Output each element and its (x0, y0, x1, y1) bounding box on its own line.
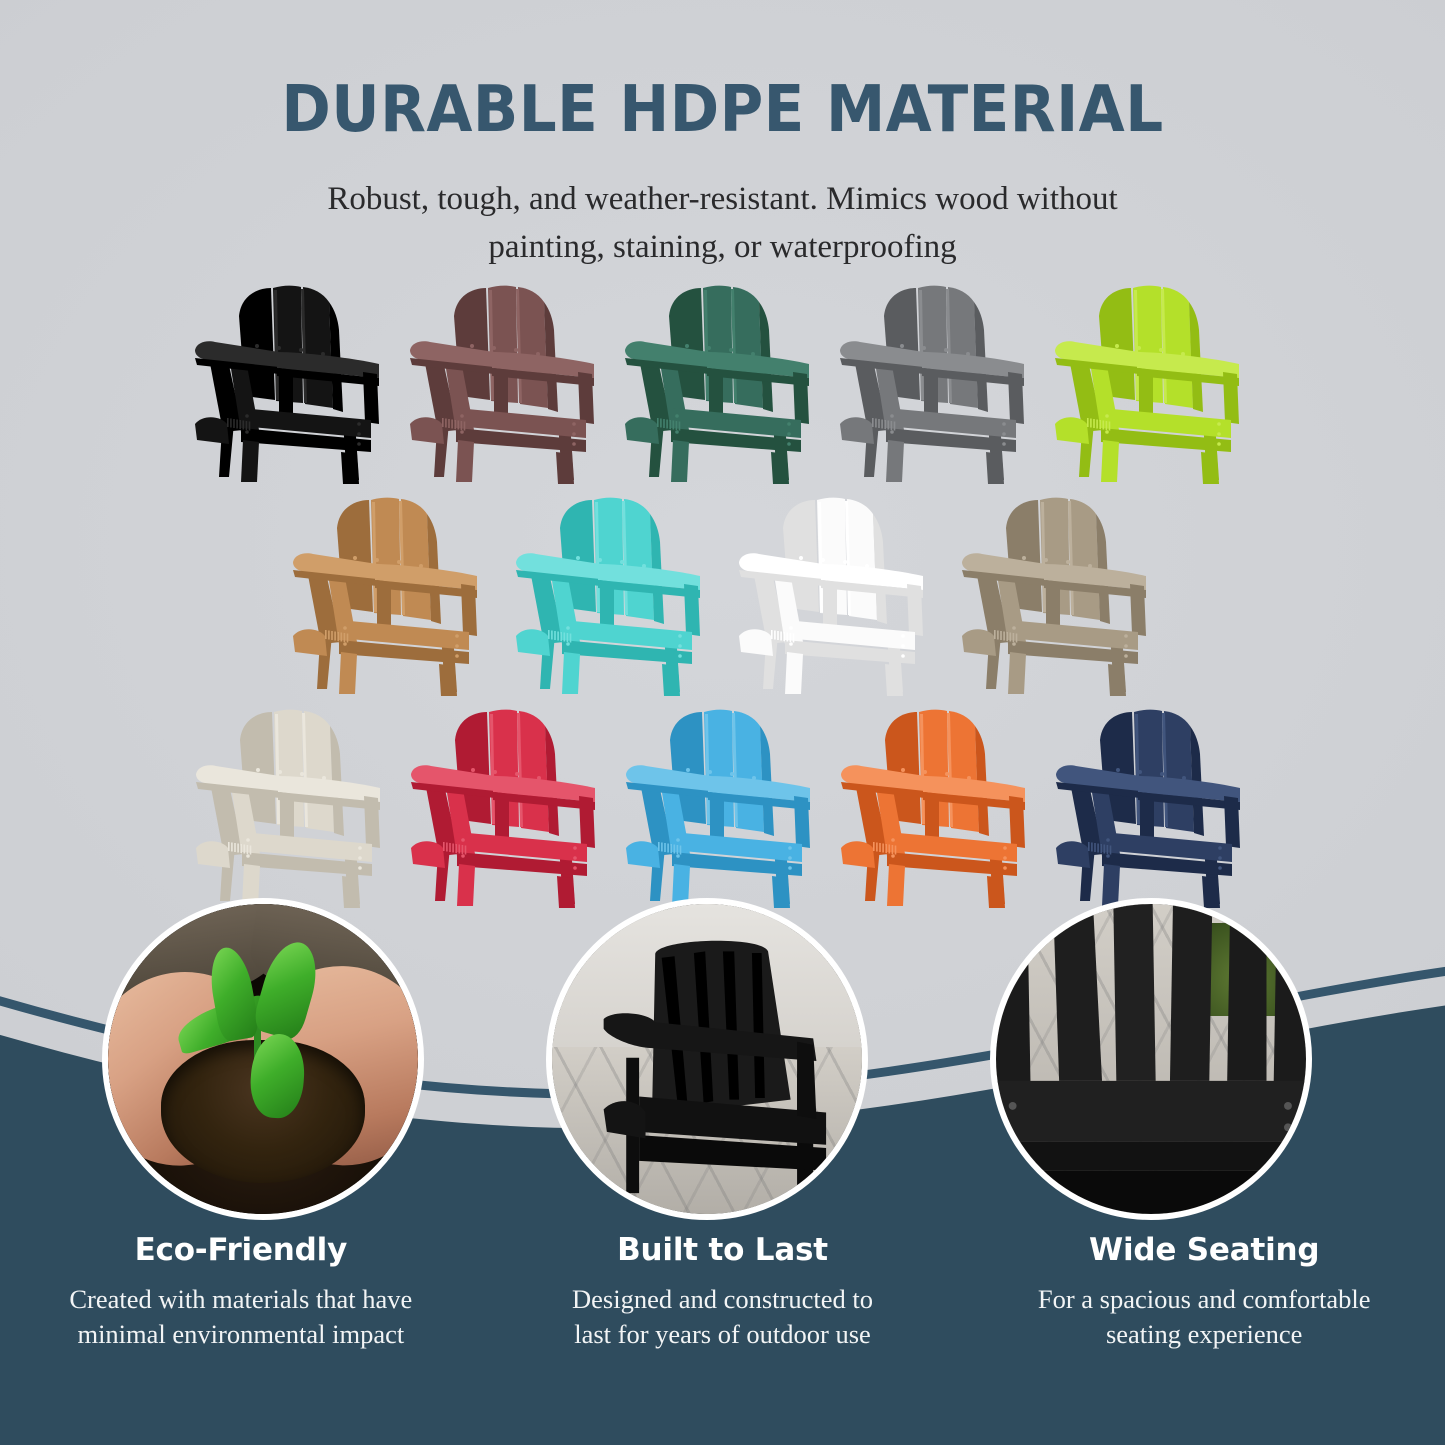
chair-rivet (397, 560, 401, 564)
feature-desc-line-1: For a spacious and comfortable (977, 1282, 1431, 1317)
chair-part (518, 287, 548, 408)
chair-swatch-white (727, 484, 942, 696)
chair-hinge-tooth (792, 634, 794, 643)
chair-swatch-gray (828, 272, 1043, 484)
chair-part (1223, 372, 1239, 424)
chair-hinge-tooth (884, 420, 886, 429)
chair-rivet (788, 856, 792, 860)
chair-hinge-tooth (557, 632, 559, 641)
chair-color-grid (0, 272, 1445, 908)
patio-photo-background (552, 904, 862, 1214)
chair-part (410, 417, 444, 444)
chair-hinge-tooth (1103, 421, 1105, 430)
chair-rivet (455, 644, 459, 648)
eco-friendly-circle-image (102, 898, 424, 1220)
chair-rivet (1217, 422, 1221, 426)
chair-ivory (184, 696, 399, 908)
chair-hinge-tooth (783, 632, 785, 641)
chair-rivet (922, 346, 926, 350)
chair-rivet (1012, 642, 1016, 646)
chair-hinge-tooth (879, 843, 881, 852)
header: DURABLE HDPE MATERIAL Robust, tough, and… (0, 0, 1445, 272)
chair-part (461, 584, 477, 636)
chair-rivet (572, 432, 576, 436)
chair-hinge-tooth (464, 422, 466, 431)
chair-hinge-tooth (346, 634, 348, 643)
chair-hinge-tooth (894, 422, 896, 431)
chair-part (1130, 584, 1146, 636)
chair-rivet (923, 770, 927, 774)
chair-rivet (460, 414, 464, 418)
chair-hinge-tooth (455, 844, 457, 853)
chair-part (303, 287, 333, 408)
chair-rivet (246, 854, 250, 858)
chair-swatch-lime-green (1043, 272, 1258, 484)
chair-hinge-tooth (231, 843, 233, 852)
chair-hinge-tooth (774, 631, 776, 640)
chair-rivet (492, 346, 496, 350)
chair-rivet (1105, 430, 1109, 434)
chair-rivet (788, 846, 792, 850)
chair-hinge-tooth (462, 845, 464, 854)
chair-rivet (357, 442, 361, 446)
chair-hinge-tooth (658, 842, 660, 851)
chair-hinge-tooth (1107, 845, 1109, 854)
chair-hinge-tooth (892, 845, 894, 854)
chair-rivet (572, 442, 576, 446)
chair-row-1 (0, 272, 1445, 484)
chair-part (986, 452, 1004, 484)
chair-part (556, 452, 574, 484)
chair-swatch-ivory (184, 696, 399, 908)
chair-rivet (686, 768, 690, 772)
feature-captions: Eco-Friendly Created with materials that… (0, 1232, 1445, 1352)
chair-swatch-teak (281, 484, 496, 696)
chair-hinge-tooth (1006, 632, 1008, 641)
chair-hinge-tooth (888, 421, 890, 430)
chair-rivet (1002, 422, 1006, 426)
chair-part (739, 629, 773, 656)
chair-rivet (1066, 560, 1070, 564)
chair-hinge-tooth (1091, 843, 1093, 852)
chair-hinge-tooth (445, 419, 447, 428)
chair-hinge-tooth (1110, 846, 1112, 855)
chair-hinge-tooth (889, 845, 891, 854)
chair-hinge-tooth (1104, 845, 1106, 854)
chair-hinge-tooth (1088, 842, 1090, 851)
chair-rivet (676, 838, 680, 842)
chair-rivet (1002, 432, 1006, 436)
chair-hinge-tooth (343, 633, 345, 642)
chair-hinge-tooth (452, 844, 454, 853)
chair-rivet (789, 626, 793, 630)
feature-desc-line-2: seating experience (977, 1317, 1431, 1352)
chair-rivet (1022, 556, 1026, 560)
wide-seat-illustration (996, 904, 1306, 1214)
chair-swatch-dark-green (613, 272, 828, 484)
chair-hinge-tooth (247, 845, 249, 854)
chair-hinge-tooth (566, 633, 568, 642)
chair-hinge-tooth (676, 421, 678, 430)
chair-rivet (675, 414, 679, 418)
chair-hinge-tooth (250, 846, 252, 855)
chair-hinge-tooth (777, 631, 779, 640)
chair-rivet (1137, 346, 1141, 350)
chair-rivet (460, 430, 464, 434)
chair-hinge-tooth (666, 420, 668, 429)
chair-hinge-tooth (667, 844, 669, 853)
chair-rivet (1159, 348, 1163, 352)
chair-part (519, 711, 549, 832)
black-chair-on-patio-photo (552, 904, 862, 1214)
chair-hinge-tooth (661, 843, 663, 852)
chair-rivet (901, 654, 905, 658)
chair-hinge-tooth (873, 842, 875, 851)
eco-photo-background (108, 904, 418, 1214)
feature-desc-line-1: Designed and constructed to (496, 1282, 950, 1317)
chair-rivet (358, 866, 362, 870)
chair-rivet (1217, 442, 1221, 446)
chair-hinge-tooth (459, 845, 461, 854)
chair-hinge-tooth (442, 418, 444, 427)
chair-rivet (343, 642, 347, 646)
chair-part (684, 584, 700, 636)
chair-rivet (788, 866, 792, 870)
chair-part (771, 452, 789, 484)
chair-rivet (891, 838, 895, 842)
built-to-last-circle-image (546, 898, 868, 1220)
chair-part (241, 440, 259, 482)
chair-hinge-tooth (664, 843, 666, 852)
chair-hinge-tooth (679, 422, 681, 431)
chair-swatch-navy-blue (1044, 696, 1259, 908)
chair-rivet (1124, 654, 1128, 658)
chair-swatch-turquoise (504, 484, 719, 696)
chair-part (625, 417, 659, 444)
chair-part (364, 796, 380, 848)
chair-rivet (357, 432, 361, 436)
chair-hinge-tooth (1015, 634, 1017, 643)
chair-rivet (357, 422, 361, 426)
chair-hinge-tooth (660, 419, 662, 428)
chair-hinge-tooth (461, 421, 463, 430)
chair-part (907, 584, 923, 636)
chair-rivet (1217, 432, 1221, 436)
chair-orange (829, 696, 1044, 908)
chair-hinge-tooth (881, 420, 883, 429)
chair-rivet (300, 772, 304, 776)
chair-hinge-tooth (1093, 419, 1095, 428)
chair-part (785, 652, 803, 694)
chair-rivet (685, 344, 689, 348)
chair-rivet (1105, 414, 1109, 418)
chair-rivet (278, 770, 282, 774)
chair-part (363, 372, 379, 424)
chair-swatch-weathered-wood (950, 484, 1165, 696)
chair-hinge-tooth (1094, 843, 1096, 852)
chair-rivet (1003, 846, 1007, 850)
chair-part (671, 440, 689, 482)
chair-rivet (1002, 442, 1006, 446)
chair-rivet (358, 846, 362, 850)
chair-rivet (598, 558, 602, 562)
chair-part (401, 499, 431, 620)
chair-hinge-tooth (563, 633, 565, 642)
feature-eco-friendly: Eco-Friendly Created with materials that… (0, 1232, 482, 1352)
chair-hinge-tooth (1097, 844, 1099, 853)
chair-rivet (944, 348, 948, 352)
chair-rivet (515, 772, 519, 776)
chair-rivet (245, 430, 249, 434)
chair-rivet (566, 642, 570, 646)
chair-hinge-tooth (246, 421, 248, 430)
chair-hinge-tooth (448, 419, 450, 428)
chair-hinge-tooth (895, 846, 897, 855)
chair-hinge-tooth (449, 843, 451, 852)
chair-hinge-tooth (674, 845, 676, 854)
chair-hinge-tooth (240, 844, 242, 853)
chair-rivet (1044, 558, 1048, 562)
chair-rivet (255, 344, 259, 348)
chair-hinge-tooth (328, 631, 330, 640)
chair-hinge-tooth (244, 845, 246, 854)
chair-part (949, 711, 979, 832)
chair-hinge-tooth (1009, 633, 1011, 642)
chair-wide-seat-closeup-photo (996, 904, 1306, 1214)
chair-rivet (493, 770, 497, 774)
black-chair-photo-illustration (552, 910, 862, 1214)
chair-rivet (573, 866, 577, 870)
chair-rivet (343, 626, 347, 630)
chair-hinge-tooth (1087, 418, 1089, 427)
feature-description: Designed and constructed to last for yea… (496, 1282, 950, 1352)
chair-part (1008, 372, 1024, 424)
chair-hinge-tooth (446, 843, 448, 852)
chair-rivet (678, 644, 682, 648)
chair-hinge-tooth (1096, 420, 1098, 429)
chair-part (456, 440, 474, 482)
chair-rivet (358, 856, 362, 860)
chair-rivet (470, 344, 474, 348)
feature-description: Created with materials that have minimal… (14, 1282, 468, 1352)
chair-part (793, 372, 809, 424)
chair-part (1055, 417, 1089, 444)
chair-rivet (1138, 770, 1142, 774)
chair-part (195, 417, 229, 444)
chair-hinge-tooth (786, 633, 788, 642)
chair-rivet (729, 348, 733, 352)
feature-desc-line-2: minimal environmental impact (14, 1317, 468, 1352)
chair-rivet (1124, 634, 1128, 638)
chair-part (794, 796, 810, 848)
chair-hinge-tooth (1106, 421, 1108, 430)
chair-rivet (1012, 626, 1016, 630)
chair-rivet (375, 558, 379, 562)
chair-part (1164, 711, 1194, 832)
chair-rivet (890, 414, 894, 418)
feature-desc-line-1: Created with materials that have (14, 1282, 468, 1317)
chair-hinge-tooth (227, 418, 229, 427)
chair-part (304, 711, 334, 832)
chair-rivet (620, 560, 624, 564)
wide-seating-circle-image (990, 898, 1312, 1220)
chair-hinge-tooth (1099, 420, 1101, 429)
chair-hinge-tooth (249, 422, 251, 431)
chair-swatch-black (183, 272, 398, 484)
chair-part (733, 287, 763, 408)
chair-weathered-wood (950, 484, 1165, 696)
chair-hinge-tooth (997, 631, 999, 640)
chair-rivet (277, 346, 281, 350)
chair-rivet (1160, 772, 1164, 776)
chair-hinge-tooth (885, 844, 887, 853)
chair-part (1201, 452, 1219, 484)
chair-rivet (675, 430, 679, 434)
chair-rivet (787, 432, 791, 436)
chair-part (578, 372, 594, 424)
chair-rivet (246, 838, 250, 842)
chair-hinge-tooth (551, 631, 553, 640)
feature-title: Built to Last (496, 1232, 950, 1268)
chair-rivet (1218, 856, 1222, 860)
chair-swatch-brown (398, 272, 613, 484)
chair-hinge-tooth (1000, 631, 1002, 640)
chair-swatch-sky-blue (614, 696, 829, 908)
chair-teak (281, 484, 496, 696)
chair-rivet (461, 838, 465, 842)
chair-row-2 (0, 484, 1445, 696)
chair-lime-green (1043, 272, 1258, 484)
chair-turquoise (504, 484, 719, 696)
chair-hinge-tooth (1090, 419, 1092, 428)
chair-hinge-tooth (876, 843, 878, 852)
chair-hinge-tooth (458, 421, 460, 430)
chair-rivet (799, 556, 803, 560)
page-title: DURABLE HDPE MATERIAL (51, 78, 1395, 142)
chair-rivet (678, 654, 682, 658)
feature-desc-line-2: last for years of outdoor use (496, 1317, 950, 1352)
chair-hinge-tooth (560, 632, 562, 641)
chair-hinge-tooth (230, 419, 232, 428)
chair-rivet (353, 556, 357, 560)
chair-part (885, 664, 903, 696)
chair-hinge-tooth (337, 632, 339, 641)
chair-rivet (787, 422, 791, 426)
chair-hinge-tooth (451, 420, 453, 429)
chair-hinge-tooth (1003, 632, 1005, 641)
chair-hinge-tooth (228, 842, 230, 851)
feature-built-to-last: Built to Last Designed and constructed t… (482, 1232, 964, 1352)
chair-navy-blue (1044, 696, 1259, 908)
chair-hinge-tooth (670, 844, 672, 853)
chair-part (624, 499, 654, 620)
chair-rivet (1115, 344, 1119, 348)
chair-swatch-orange (829, 696, 1044, 908)
chair-hinge-tooth (1012, 633, 1014, 642)
chair-hinge-tooth (994, 630, 996, 639)
chair-rivet (901, 634, 905, 638)
chair-hinge-tooth (669, 420, 671, 429)
chair-hinge-tooth (878, 419, 880, 428)
page-subtitle: Robust, tough, and weather-resistant. Mi… (223, 176, 1223, 272)
chair-hinge-tooth (243, 421, 245, 430)
chair-hinge-tooth (1100, 844, 1102, 853)
chair-rivet (678, 634, 682, 638)
chair-hinge-tooth (465, 846, 467, 855)
chair-rivet (1218, 866, 1222, 870)
chair-hinge-tooth (680, 846, 682, 855)
feature-title: Wide Seating (977, 1232, 1431, 1268)
chair-rivet (730, 772, 734, 776)
chair-rivet (676, 854, 680, 858)
chair-row-3 (0, 696, 1445, 908)
subtitle-line-2: painting, staining, or waterproofing (223, 224, 1223, 272)
chair-hinge-tooth (882, 844, 884, 853)
hands-holding-seedling-photo (108, 904, 418, 1214)
chair-part (1056, 841, 1090, 868)
chair-hinge-tooth (569, 634, 571, 643)
chair-hinge-tooth (1109, 422, 1111, 431)
chair-part (626, 841, 660, 868)
chair-rivet (573, 846, 577, 850)
chair-hinge-tooth (443, 842, 445, 851)
chair-gray (828, 272, 1043, 484)
chair-part (516, 629, 550, 656)
chair-red (399, 696, 614, 908)
chair-sky-blue (614, 696, 829, 908)
chair-rivet (572, 422, 576, 426)
chair-part (734, 711, 764, 832)
chair-part (886, 440, 904, 482)
feature-title: Eco-Friendly (14, 1232, 468, 1268)
chair-hinge-tooth (663, 419, 665, 428)
chair-rivet (891, 854, 895, 858)
feature-wide-seating: Wide Seating For a spacious and comforta… (963, 1232, 1445, 1352)
chair-hinge-tooth (657, 418, 659, 427)
chair-rivet (576, 556, 580, 560)
chair-part (1009, 796, 1025, 848)
chair-hinge-tooth (237, 844, 239, 853)
chair-brown (398, 272, 613, 484)
chair-rivet (455, 634, 459, 638)
chair-rivet (901, 644, 905, 648)
chair-rivet (566, 626, 570, 630)
chair-part (196, 841, 230, 868)
chair-rivet (890, 430, 894, 434)
chair-hinge-tooth (331, 631, 333, 640)
chair-rivet (1124, 644, 1128, 648)
chair-rivet (789, 642, 793, 646)
chair-part (293, 629, 327, 656)
chair-part (662, 664, 680, 696)
chair-rivet (455, 654, 459, 658)
chair-dark-green (613, 272, 828, 484)
chair-part (962, 629, 996, 656)
chair-part (1070, 499, 1100, 620)
chair-hinge-tooth (236, 420, 238, 429)
chair-hinge-tooth (891, 421, 893, 430)
chair-white (727, 484, 942, 696)
chair-part (948, 287, 978, 408)
chair-hinge-tooth (233, 419, 235, 428)
chair-rivet (299, 348, 303, 352)
chair-part (579, 796, 595, 848)
chair-part (847, 499, 877, 620)
chair-part (841, 841, 875, 868)
chair-rivet (945, 772, 949, 776)
feature-image-circles (0, 898, 1445, 1228)
chair-hinge-tooth (673, 421, 675, 430)
